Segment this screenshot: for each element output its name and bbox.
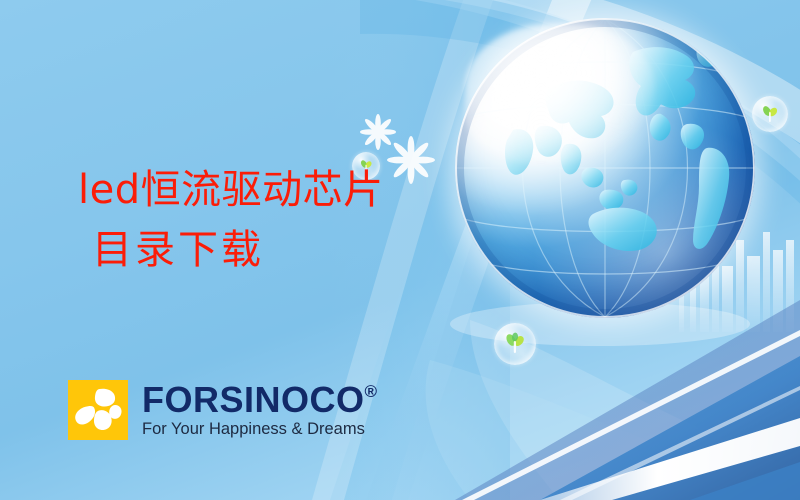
headline-line-2: 目录下载 (78, 220, 478, 280)
logo-text-block: FORSINOCO ® For Your Happiness & Dreams (142, 382, 378, 439)
logo-tagline: For Your Happiness & Dreams (142, 419, 378, 439)
registered-trademark-icon: ® (365, 383, 378, 400)
pinwheel-petals (68, 380, 128, 440)
bubble-center-bottom (494, 323, 536, 365)
headline-block: led恒流驱动芯片 目录下载 (78, 160, 478, 280)
headline-line-1: led恒流驱动芯片 (78, 160, 478, 220)
bubble-right-edge (752, 96, 788, 132)
four-petal-pinwheel-icon (68, 380, 128, 440)
company-logo: FORSINOCO ® For Your Happiness & Dreams (68, 380, 378, 440)
logo-wordmark-text: FORSINOCO (142, 382, 365, 418)
logo-wordmark-row: FORSINOCO ® (142, 382, 378, 418)
earth-globe (455, 18, 755, 318)
promo-banner: led恒流驱动芯片 目录下载 FORSINOCO ® For Your Happ… (0, 0, 800, 500)
green-pinwheel-right-icon (759, 103, 781, 125)
green-leaf-pinwheel-icon (502, 331, 528, 357)
